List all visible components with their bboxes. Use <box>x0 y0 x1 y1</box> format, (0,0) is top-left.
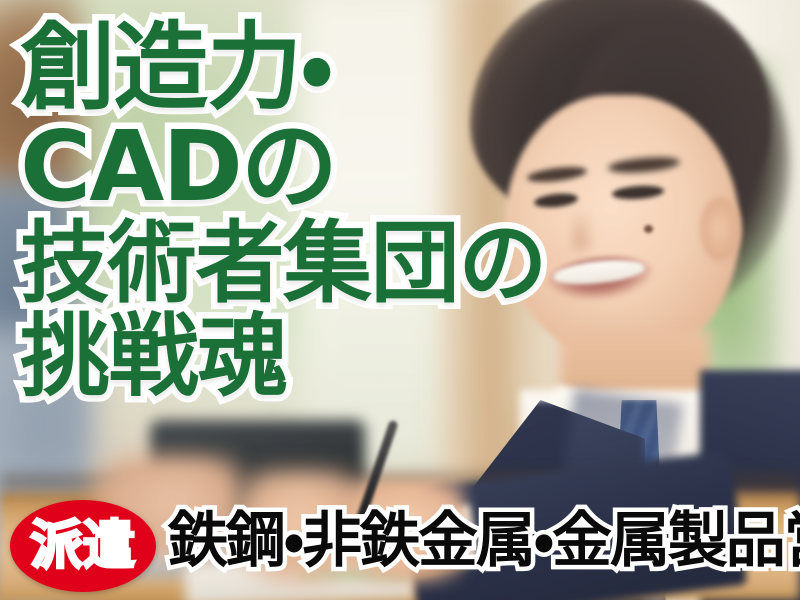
bottom-bar: 派遣 鉄鋼・非鉄金属・金属製品営業 <box>0 494 800 598</box>
headline-line-2: CADの <box>20 120 660 214</box>
employment-type-badge: 派遣 <box>10 500 156 592</box>
headline-line-3: 技術者集団の <box>20 220 660 306</box>
headline-line-4: 挑戦魂 <box>20 313 660 400</box>
headline: 創造力・ CADの 技術者集団の 挑戦魂 <box>20 22 660 406</box>
headline-line-1: 創造力・ <box>20 22 660 114</box>
employment-type-label: 派遣 <box>30 520 135 572</box>
job-advertisement-banner: 創造力・ CADの 技術者集団の 挑戦魂 派遣 鉄鋼・非鉄金属・金属製品営業 <box>0 0 800 600</box>
job-title: 鉄鋼・非鉄金属・金属製品営業 <box>168 508 794 575</box>
